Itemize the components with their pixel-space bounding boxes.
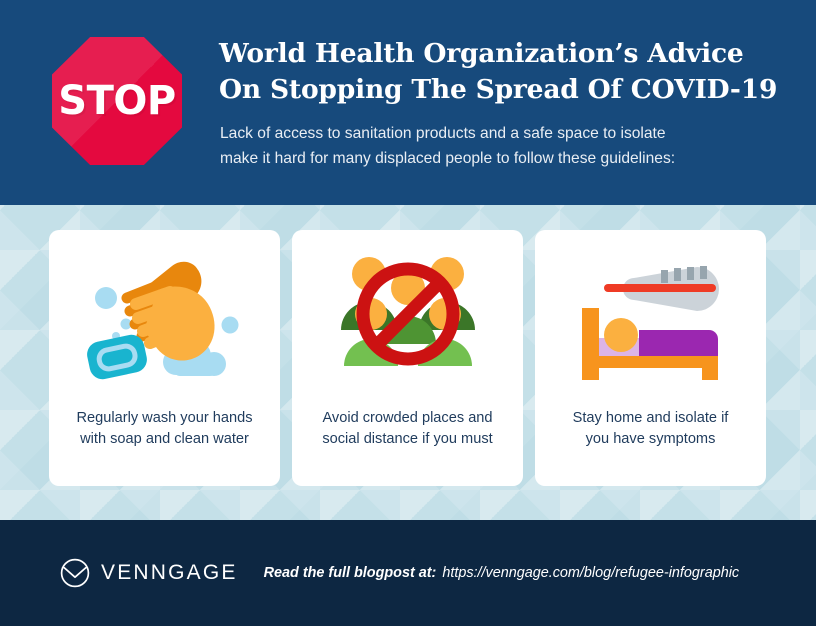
venngage-logo[interactable]: VENNGAGE <box>60 558 238 588</box>
thermometer <box>604 266 719 311</box>
advice-card-caption-line-2: you have symptoms <box>545 429 756 450</box>
advice-card-handwashing[interactable]: Regularly wash your hands with soap and … <box>49 230 280 486</box>
footer-read-label: Read the full blogpost at: <box>264 565 437 581</box>
stop-sign-label: STOP <box>52 37 182 165</box>
advice-card-caption: Stay home and isolate if you have sympto… <box>545 408 756 450</box>
footer-section: VENNGAGE Read the full blogpost at: http… <box>0 520 816 626</box>
venngage-logo-icon <box>60 558 90 588</box>
page-title-line-2: On Stopping The Spread Of COVID-19 <box>219 72 799 108</box>
advice-card-avoid-crowds[interactable]: Avoid crowded places and social distance… <box>292 230 523 486</box>
advice-card-caption-line-2: social distance if you must <box>302 429 513 450</box>
footer-blogpost-url[interactable]: https://venngage.com/blog/refugee-infogr… <box>442 565 739 581</box>
page-subtitle-line-2: make it hard for many displaced people t… <box>220 146 780 171</box>
venngage-wordmark: VENNGAGE <box>101 561 238 585</box>
stop-sign-graphic: STOP <box>52 37 182 165</box>
advice-card-caption-line-1: Regularly wash your hands <box>59 408 270 429</box>
advice-card-caption-line-1: Avoid crowded places and <box>302 408 513 429</box>
advice-card-caption-line-1: Stay home and isolate if <box>545 408 756 429</box>
advice-card-stay-home[interactable]: Stay home and isolate if you have sympto… <box>535 230 766 486</box>
header-section: STOP World Health Organization’s Advice … <box>0 0 816 205</box>
infographic-canvas: STOP World Health Organization’s Advice … <box>0 0 816 626</box>
no-crowds-icon <box>292 252 523 392</box>
advice-card-caption: Regularly wash your hands with soap and … <box>59 408 270 450</box>
bed <box>582 308 718 380</box>
footer-content: VENNGAGE Read the full blogpost at: http… <box>60 520 739 626</box>
stay-home-bed-icon <box>535 252 766 392</box>
page-title: World Health Organization’s Advice On St… <box>219 36 799 108</box>
page-subtitle: Lack of access to sanitation products an… <box>220 121 780 171</box>
page-subtitle-line-1: Lack of access to sanitation products an… <box>220 121 780 146</box>
advice-card-caption: Avoid crowded places and social distance… <box>302 408 513 450</box>
page-title-line-1: World Health Organization’s Advice <box>219 36 799 72</box>
advice-card-caption-line-2: with soap and clean water <box>59 429 270 450</box>
handwashing-icon <box>49 252 280 392</box>
